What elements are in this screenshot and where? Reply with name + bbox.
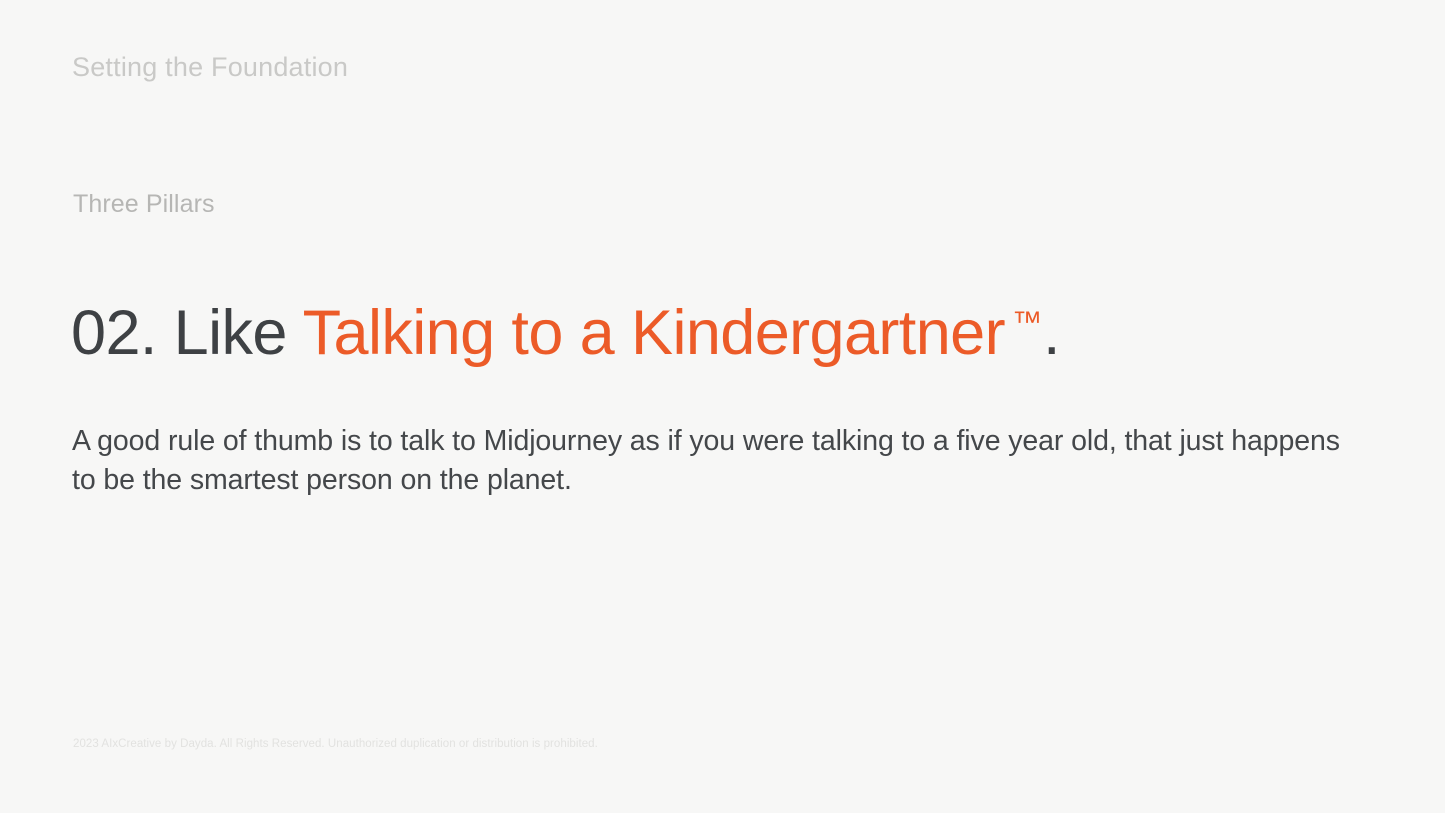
slide-body-copy: A good rule of thumb is to talk to Midjo… bbox=[72, 422, 1342, 500]
headline-trailing-period: . bbox=[1043, 298, 1060, 368]
headline-accent-phrase: Talking to a Kindergartner bbox=[303, 298, 1005, 368]
slide-eyebrow-heading: Setting the Foundation bbox=[72, 52, 348, 83]
slide-headline: 02. Like Talking to a Kindergartner™. bbox=[71, 298, 1060, 369]
trademark-icon: ™ bbox=[1012, 306, 1042, 339]
slide-canvas: Setting the Foundation Three Pillars 02.… bbox=[0, 0, 1445, 813]
headline-number-lead: 02. Like bbox=[71, 298, 303, 368]
section-label: Three Pillars bbox=[73, 190, 215, 219]
slide-footer-copyright: 2023 AIxCreative by Dayda. All Rights Re… bbox=[73, 738, 598, 750]
